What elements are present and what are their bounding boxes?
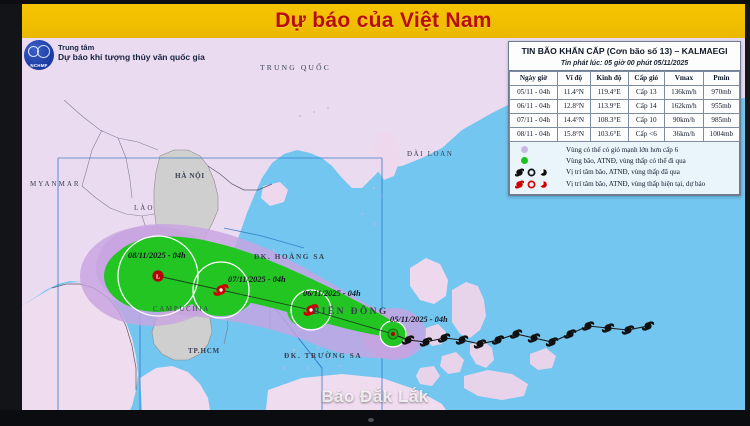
forecast-table-cell: 06/11 - 04h <box>510 99 558 113</box>
forecast-table-cell: 136km/h <box>665 85 704 99</box>
logo-abbreviation: NCHMF <box>24 63 54 68</box>
legend-label: Vị trí tâm bão, ATNĐ, vùng thấp hiện tại… <box>566 180 705 188</box>
forecast-table-cell: Cấp 14 <box>628 99 664 113</box>
cyclone-half-icon <box>539 168 548 177</box>
forecast-table-header-cell: Cấp gió <box>628 71 664 85</box>
bezel-right <box>745 0 750 426</box>
bezel-indicator-dot <box>368 418 374 422</box>
map-region-label: TRUNG QUỐC <box>260 62 331 72</box>
forecast-table-header-cell: Vmax <box>665 71 704 85</box>
agency-logo-block: NCHMF Trung tâm Dự báo khí tượng thủy vă… <box>24 40 205 70</box>
forecast-table-cell: 119.4°E <box>590 85 628 99</box>
legend-row: Vùng có thể có gió mạnh lớn hơn cấp 6 <box>515 146 734 154</box>
cyclone-ring-icon <box>527 168 536 177</box>
legend-row: Vị trí tâm bão, ATNĐ, vùng thấp hiện tại… <box>515 180 734 189</box>
forecast-table-cell: 14.4°N <box>558 113 591 127</box>
forecast-table-cell: 90km/h <box>665 113 704 127</box>
forecast-point-label: 05/11/2025 - 04h <box>390 315 448 324</box>
weather-map: L TRUNG QUỐCMYANMARHÀ NỘILÀOĐÀI LOANCAMP… <box>22 38 745 410</box>
map-region-label: ĐK. TRƯỜNG SA <box>284 350 362 360</box>
forecast-table-cell: 15.8°N <box>558 127 591 141</box>
forecast-table-cell: 955mb <box>703 99 739 113</box>
forecast-table-row: 08/11 - 04h15.8°N103.6°ECấp <636km/h1004… <box>510 127 740 141</box>
forecast-table-header-cell: Kinh độ <box>590 71 628 85</box>
forecast-table-row: 07/11 - 04h14.4°N108.3°ECấp 1090km/h985m… <box>510 113 740 127</box>
forecast-table-cell: 108.3°E <box>590 113 628 127</box>
map-region-label: LÀO <box>134 204 154 212</box>
tv-screen: Dự báo của Việt Nam <box>0 0 750 426</box>
legend-label: Vị trí tâm bão, ATNĐ, vùng thấp đã qua <box>566 168 680 176</box>
storm-info-panel: TIN BÃO KHẨN CẤP (Cơn bão số 13) – KALMA… <box>508 41 741 196</box>
cyclone-filled-icon <box>515 168 524 177</box>
bezel-left <box>0 0 22 426</box>
forecast-table-body: 05/11 - 04h11.4°N119.4°ECấp 13136km/h970… <box>510 85 740 141</box>
forecast-table-cell: 970mb <box>703 85 739 99</box>
forecast-table-header-cell: Pmin <box>703 71 739 85</box>
bulletin-issued-time: Tin phát lúc: 05 giờ 00 phút 05/11/2025 <box>513 60 736 67</box>
info-panel-header: TIN BÃO KHẨN CẤP (Cơn bão số 13) – KALMA… <box>509 42 740 71</box>
bezel-top <box>0 0 750 4</box>
legend-label: Vùng bão, ATNĐ, vùng thấp có thể đi qua <box>566 157 686 165</box>
forecast-table-cell: 113.9°E <box>590 99 628 113</box>
title-banner: Dự báo của Việt Nam <box>22 4 745 38</box>
forecast-table-row: 05/11 - 04h11.4°N119.4°ECấp 13136km/h970… <box>510 85 740 99</box>
map-region-label: ĐÀI LOAN <box>407 150 453 158</box>
cyclone-half-icon <box>539 180 548 189</box>
page-title: Dự báo của Việt Nam <box>275 9 492 33</box>
map-region-label: ĐK. HOÀNG SA <box>254 251 326 261</box>
forecast-table-cell: 12.8°N <box>558 99 591 113</box>
forecast-table-cell: 36km/h <box>665 127 704 141</box>
watermark: Báo Đắk Lắk <box>0 387 750 407</box>
green-zone-swatch-icon <box>521 157 528 164</box>
forecast-table-cell: Cấp 10 <box>628 113 664 127</box>
legend-row: Vùng bão, ATNĐ, vùng thấp có thể đi qua <box>515 157 734 165</box>
forecast-table-cell: 162km/h <box>665 99 704 113</box>
map-region-label: HÀ NỘI <box>175 170 205 180</box>
forecast-point-label: 08/11/2025 - 04h <box>128 251 186 260</box>
forecast-table-header-cell: Vĩ độ <box>558 71 591 85</box>
legend-icon-group <box>515 146 561 153</box>
map-legend: Vùng có thể có gió mạnh lớn hơn cấp 6Vùn… <box>509 142 740 195</box>
legend-icon-group <box>515 180 561 189</box>
legend-row: Vị trí tâm bão, ATNĐ, vùng thấp đã qua <box>515 168 734 177</box>
forecast-table-header-row: Ngày giờVĩ độKinh độCấp gióVmaxPmin <box>510 71 740 85</box>
nchmf-logo-icon: NCHMF <box>24 40 54 70</box>
map-region-label: MYANMAR <box>30 180 81 188</box>
agency-name: Trung tâm Dự báo khí tượng thủy văn quốc… <box>58 40 205 62</box>
legend-label: Vùng có thể có gió mạnh lớn hơn cấp 6 <box>566 146 678 154</box>
forecast-table-row: 06/11 - 04h12.8°N113.9°ECấp 14162km/h955… <box>510 99 740 113</box>
forecast-table-cell: 05/11 - 04h <box>510 85 558 99</box>
forecast-table-cell: 103.6°E <box>590 127 628 141</box>
svg-text:L: L <box>156 273 161 280</box>
forecast-table-cell: 08/11 - 04h <box>510 127 558 141</box>
forecast-table-cell: 985mb <box>703 113 739 127</box>
map-region-label: CAMPUCHIA <box>153 306 210 313</box>
map-region-label: TP.HCM <box>188 347 220 355</box>
forecast-point-label: 06/11/2025 - 04h <box>303 289 361 298</box>
forecast-table-cell: Cấp 13 <box>628 85 664 99</box>
forecast-table-header-cell: Ngày giờ <box>510 71 558 85</box>
legend-icon-group <box>515 157 561 164</box>
bezel-bottom <box>0 410 750 426</box>
cyclone-ring-icon <box>527 180 536 189</box>
cyclone-filled-icon <box>515 180 524 189</box>
forecast-table: Ngày giờVĩ độKinh độCấp gióVmaxPmin 05/1… <box>509 71 740 142</box>
forecast-table-cell: 1004mb <box>703 127 739 141</box>
forecast-table-cell: 07/11 - 04h <box>510 113 558 127</box>
agency-line2: Dự báo khí tượng thủy văn quốc gia <box>58 53 205 63</box>
legend-icon-group <box>515 168 561 177</box>
bulletin-heading: TIN BÃO KHẨN CẤP (Cơn bão số 13) – KALMA… <box>513 46 736 58</box>
forecast-point-label: 07/11/2025 - 04h <box>228 275 286 284</box>
purple-zone-swatch-icon <box>521 146 528 153</box>
forecast-table-cell: 11.4°N <box>558 85 591 99</box>
forecast-table-cell: Cấp <6 <box>628 127 664 141</box>
